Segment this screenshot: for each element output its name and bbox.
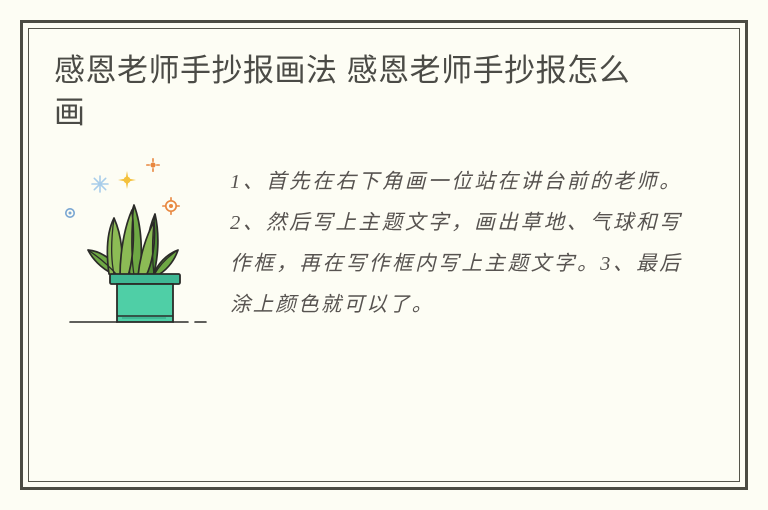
article-content: 感恩老师手抄报画法 感恩老师手抄报怎么画 <box>28 28 740 482</box>
article-body-row: 1、首先在右下角画一位站在讲台前的老师。2、然后写上主题文字，画出草地、气球和写… <box>54 156 714 336</box>
circle-sparkle-blue <box>66 209 74 217</box>
dot-sparkle-small <box>146 158 160 172</box>
plant-pot <box>110 274 180 322</box>
ring-sparkle <box>162 197 180 215</box>
star-sparkle <box>118 171 136 189</box>
page-title: 感恩老师手抄报画法 感恩老师手抄报怎么画 <box>54 50 654 134</box>
snowflake-sparkle <box>92 176 108 192</box>
page-root: 感恩老师手抄报画法 感恩老师手抄报怎么画 <box>0 0 768 510</box>
article-body-text: 1、首先在右下角画一位站在讲台前的老师。2、然后写上主题文字，画出草地、气球和写… <box>214 156 682 326</box>
potted-plant-illustration <box>54 156 214 336</box>
